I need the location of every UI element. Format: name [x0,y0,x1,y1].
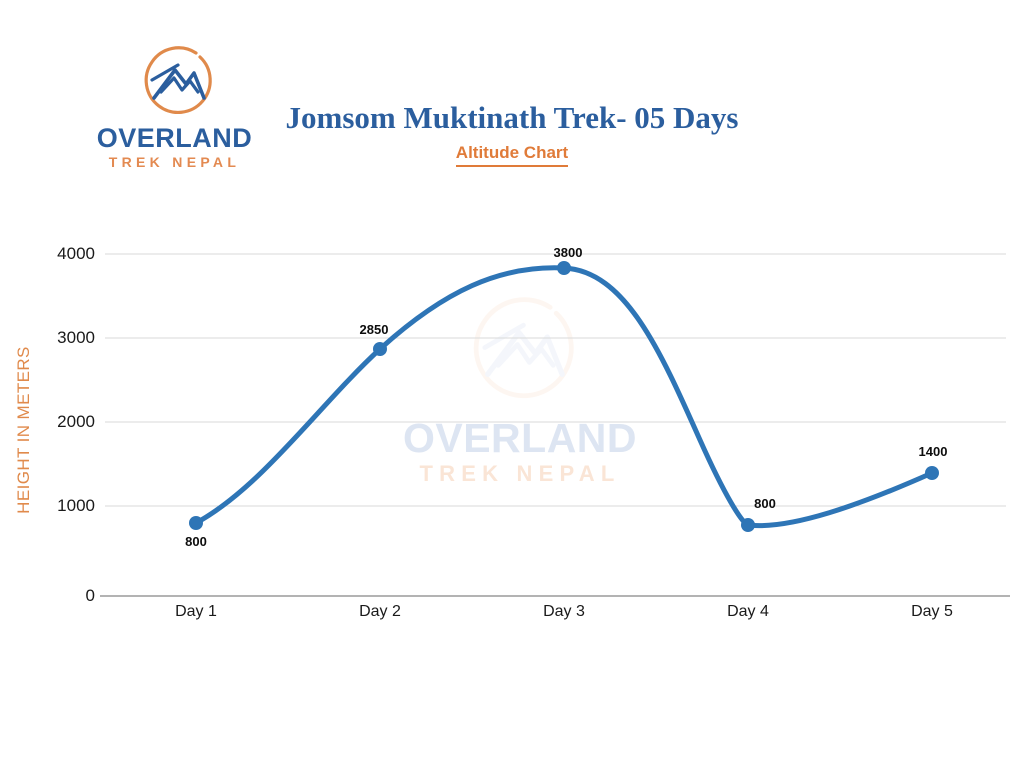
data-point-day-2[interactable] [373,342,387,356]
data-point-day-1[interactable] [189,516,203,530]
x-tick-label-day-4: Day 4 [688,603,808,621]
data-point-day-5[interactable] [925,466,939,480]
data-label-day-4: 800 [720,496,810,511]
chart-data-series [0,0,1024,768]
x-tick-label-day-3: Day 3 [504,603,624,621]
data-point-day-3[interactable] [557,261,571,275]
x-tick-label-day-1: Day 1 [136,603,256,621]
data-label-day-5: 1400 [888,444,978,459]
altitude-line [196,268,932,526]
data-label-day-3: 3800 [523,245,613,260]
data-point-day-4[interactable] [741,518,755,532]
x-tick-label-day-5: Day 5 [872,603,992,621]
data-label-day-2: 2850 [329,322,419,337]
data-label-day-1: 800 [151,534,241,549]
x-tick-label-day-2: Day 2 [320,603,440,621]
altitude-chart: HEIGHT IN METERS 4000 3000 2000 1000 0 8… [0,0,1024,768]
